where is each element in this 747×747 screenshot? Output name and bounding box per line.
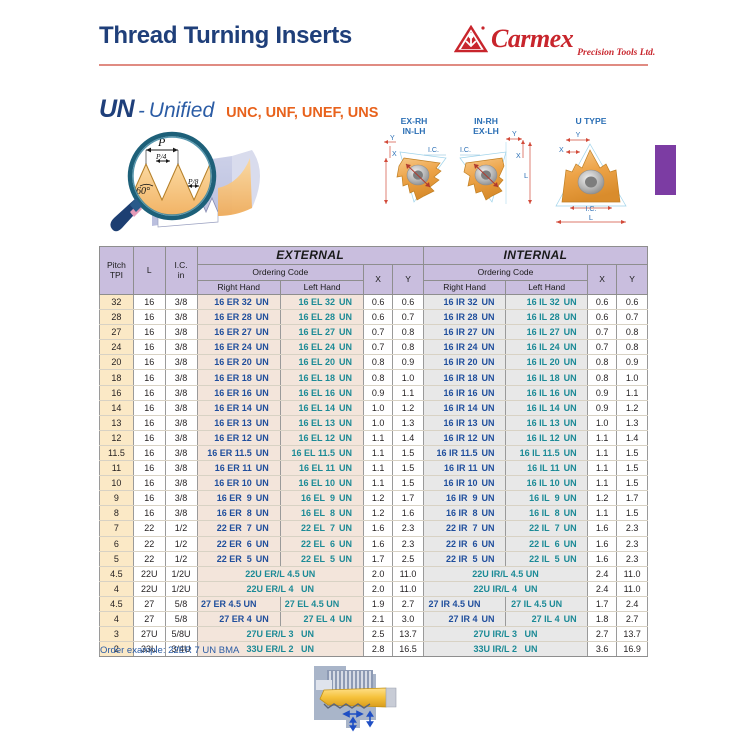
cell-internal-left-hand: 16 IL 11UN (506, 461, 588, 476)
svg-text:X: X (516, 153, 521, 160)
header-int-y: Y (617, 265, 648, 295)
cell-internal-x: 1.8 (588, 611, 617, 626)
table-header: Pitch TPI L I.C. in EXTERNAL INTERNAL Or… (100, 247, 648, 295)
cell-external-left-hand: 16 EL 20UN (280, 355, 363, 370)
cell-external-y: 3.0 (393, 611, 424, 626)
cell-internal-y: 1.1 (617, 385, 648, 400)
cell-ic: 3/8 (165, 430, 197, 445)
cell-internal-x: 1.2 (588, 491, 617, 506)
cell-pitch: 4 (100, 581, 134, 596)
table-row: 422U1/2U22U ER/L 4 UN2.011.022U IR/L 4 U… (100, 581, 648, 596)
cell-external-y: 0.6 (393, 295, 424, 310)
cell-ic: 3/8 (165, 415, 197, 430)
cell-external-y: 1.5 (393, 445, 424, 460)
cell-external-y: 1.1 (393, 385, 424, 400)
cell-internal-y: 0.6 (617, 295, 648, 310)
cell-pitch: 24 (100, 340, 134, 355)
cell-l: 16 (133, 430, 165, 445)
cell-external-y: 1.4 (393, 430, 424, 445)
header-external: EXTERNAL (197, 247, 423, 265)
cell-internal-x: 0.7 (588, 340, 617, 355)
cell-external-right-hand: 16 ER 9UN (197, 491, 280, 506)
cell-external-code-span: 22U ER/L 4.5 UN (197, 566, 364, 581)
cell-l: 16 (133, 476, 165, 491)
svg-text:L: L (589, 213, 593, 222)
cell-internal-x: 1.1 (588, 430, 617, 445)
cell-external-x: 1.1 (364, 445, 393, 460)
cell-external-right-hand: 16 ER 27UN (197, 325, 280, 340)
cell-l: 16 (133, 461, 165, 476)
header-row-1: Pitch TPI L I.C. in EXTERNAL INTERNAL (100, 247, 648, 265)
cell-internal-x: 1.0 (588, 415, 617, 430)
cell-external-right-hand: 22 ER 6UN (197, 536, 280, 551)
svg-text:P/8: P/8 (187, 177, 199, 186)
cell-ic: 1/2U (165, 581, 197, 596)
cell-internal-right-hand: 16 IR 13UN (423, 415, 505, 430)
cell-pitch: 18 (100, 370, 134, 385)
cell-l: 16 (133, 340, 165, 355)
cell-ic: 1/2 (165, 521, 197, 536)
header-ext-y: Y (393, 265, 424, 295)
table-row: 13163/816 ER 13UN16 EL 13UN1.01.316 IR 1… (100, 415, 648, 430)
table-row: 6221/222 ER 6UN22 EL 6UN1.62.322 IR 6UN2… (100, 536, 648, 551)
cell-external-left-hand: 16 EL 13UN (280, 415, 363, 430)
cell-internal-y: 16.9 (617, 642, 648, 657)
cell-internal-code-span: 33U IR/L 2 UN (423, 642, 587, 657)
cell-pitch: 5 (100, 551, 134, 566)
cell-internal-y: 0.8 (617, 340, 648, 355)
cell-ic: 3/8 (165, 461, 197, 476)
cell-internal-x: 3.6 (588, 642, 617, 657)
cell-internal-x: 1.7 (588, 596, 617, 611)
cell-internal-right-hand: 16 IR 11.5UN (423, 445, 505, 460)
cell-external-left-hand: 16 EL 10UN (280, 476, 363, 491)
cell-external-y: 13.7 (393, 627, 424, 642)
cell-internal-x: 0.6 (588, 295, 617, 310)
table-row: 4.5275/827 ER 4.5 UN27 EL 4.5 UN1.92.727… (100, 596, 648, 611)
cell-internal-x: 2.7 (588, 627, 617, 642)
cell-external-right-hand: 16 ER 18UN (197, 370, 280, 385)
header-l: L (133, 247, 165, 295)
cell-ic: 3/8 (165, 355, 197, 370)
cell-internal-left-hand: 22 IL 5UN (506, 551, 588, 566)
header-pitch-unit: TPI (100, 271, 133, 281)
cell-external-right-hand: 16 ER 24UN (197, 340, 280, 355)
cell-external-right-hand: 16 ER 14UN (197, 400, 280, 415)
carmex-logo: Carmex Precision Tools Ltd. (454, 22, 655, 56)
table-row: 7221/222 ER 7UN22 EL 7UN1.62.322 IR 7UN2… (100, 521, 648, 536)
cell-pitch: 11.5 (100, 445, 134, 460)
cell-external-y: 1.7 (393, 491, 424, 506)
cell-external-x: 2.0 (364, 581, 393, 596)
cell-internal-x: 0.8 (588, 355, 617, 370)
cell-external-left-hand: 27 EL 4UN (280, 611, 363, 626)
cell-l: 27U (133, 627, 165, 642)
cell-ic: 3/8 (165, 491, 197, 506)
cell-pitch: 4 (100, 611, 134, 626)
cell-internal-x: 1.1 (588, 506, 617, 521)
cell-external-x: 1.9 (364, 596, 393, 611)
cell-l: 16 (133, 310, 165, 325)
table-row: 18163/816 ER 18UN16 EL 18UN0.81.016 IR 1… (100, 370, 648, 385)
header-int-right-hand: Right Hand (423, 281, 505, 295)
cell-internal-y: 1.5 (617, 445, 648, 460)
cell-ic: 3/8 (165, 506, 197, 521)
cell-internal-x: 1.1 (588, 445, 617, 460)
cell-external-x: 1.6 (364, 521, 393, 536)
cell-external-x: 0.7 (364, 325, 393, 340)
carmex-wordmark: Carmex (491, 26, 573, 52)
cell-external-x: 2.8 (364, 642, 393, 657)
cell-internal-left-hand: 16 IL 11.5UN (506, 445, 588, 460)
cell-internal-right-hand: 16 IR 32UN (423, 295, 505, 310)
cell-internal-y: 2.3 (617, 536, 648, 551)
cell-external-left-hand: 16 EL 8UN (280, 506, 363, 521)
cell-internal-left-hand: 16 IL 27UN (506, 325, 588, 340)
cell-internal-y: 2.3 (617, 551, 648, 566)
cell-internal-y: 2.4 (617, 596, 648, 611)
cell-l: 16 (133, 325, 165, 340)
cell-internal-x: 1.6 (588, 551, 617, 566)
cell-internal-x: 1.1 (588, 476, 617, 491)
svg-text:X: X (392, 151, 397, 158)
cell-internal-x: 0.9 (588, 385, 617, 400)
table-row: 11163/816 ER 11UN16 EL 11UN1.11.516 IR 1… (100, 461, 648, 476)
cell-external-right-hand: 16 ER 13UN (197, 415, 280, 430)
header-ic: I.C. in (165, 247, 197, 295)
cell-internal-x: 1.1 (588, 461, 617, 476)
cell-internal-left-hand: 16 IL 9UN (506, 491, 588, 506)
cell-external-y: 2.5 (393, 551, 424, 566)
cell-pitch: 27 (100, 325, 134, 340)
cell-l: 16 (133, 400, 165, 415)
cell-external-left-hand: 16 EL 11.5UN (280, 445, 363, 460)
header-int-ordering-code: Ordering Code (423, 265, 587, 281)
cell-ic: 5/8 (165, 611, 197, 626)
cell-internal-x: 0.8 (588, 370, 617, 385)
cell-external-right-hand: 16 ER 28UN (197, 310, 280, 325)
cell-internal-right-hand: 16 IR 8UN (423, 506, 505, 521)
section-subtitle: UN - Unified UNC, UNF, UNEF, UNS (99, 95, 378, 124)
cell-external-y: 0.8 (393, 325, 424, 340)
header-ic-unit: in (166, 271, 197, 281)
cell-internal-y: 1.3 (617, 415, 648, 430)
cell-external-y: 0.7 (393, 310, 424, 325)
header-internal: INTERNAL (423, 247, 647, 265)
cell-external-left-hand: 27 EL 4.5 UN (280, 596, 363, 611)
thread-standards: UNC, UNF, UNEF, UNS (226, 105, 378, 121)
cell-l: 22 (133, 551, 165, 566)
cell-internal-left-hand: 16 IL 13UN (506, 415, 588, 430)
catalog-page: Thread Turning Inserts Carmex Precision … (0, 0, 747, 747)
cell-external-right-hand: 22 ER 7UN (197, 521, 280, 536)
cell-ic: 3/8 (165, 325, 197, 340)
cell-ic: 3/8 (165, 400, 197, 415)
cell-external-y: 0.9 (393, 355, 424, 370)
cell-external-x: 1.2 (364, 506, 393, 521)
cell-external-left-hand: 16 EL 9UN (280, 491, 363, 506)
cell-internal-right-hand: 16 IR 16UN (423, 385, 505, 400)
table-row: 11.5163/816 ER 11.5UN16 EL 11.5UN1.11.51… (100, 445, 648, 460)
cell-ic: 1/2 (165, 551, 197, 566)
cell-internal-right-hand: 16 IR 14UN (423, 400, 505, 415)
cell-internal-y: 0.9 (617, 355, 648, 370)
cell-internal-left-hand: 16 IL 16UN (506, 385, 588, 400)
header-ext-ordering-code: Ordering Code (197, 265, 364, 281)
cell-external-left-hand: 16 EL 28UN (280, 310, 363, 325)
cell-internal-left-hand: 16 IL 14UN (506, 400, 588, 415)
header-ext-x: X (364, 265, 393, 295)
thread-turning-tool-diagram (300, 660, 420, 740)
cell-internal-right-hand: 22 IR 6UN (423, 536, 505, 551)
cell-ic: 1/2U (165, 566, 197, 581)
cell-external-x: 1.0 (364, 400, 393, 415)
cell-l: 16 (133, 506, 165, 521)
svg-text:X: X (559, 147, 564, 154)
cell-internal-x: 1.6 (588, 521, 617, 536)
cell-external-right-hand: 16 ER 32UN (197, 295, 280, 310)
cell-external-y: 16.5 (393, 642, 424, 657)
cell-internal-right-hand: 16 IR 12UN (423, 430, 505, 445)
cell-external-x: 0.8 (364, 355, 393, 370)
cell-internal-right-hand: 27 IR 4UN (423, 611, 505, 626)
cell-external-y: 1.2 (393, 400, 424, 415)
table-row: 27163/816 ER 27UN16 EL 27UN0.70.816 IR 2… (100, 325, 648, 340)
cell-l: 16 (133, 370, 165, 385)
cell-internal-x: 0.7 (588, 325, 617, 340)
table-row: 8163/816 ER 8UN16 EL 8UN1.21.616 IR 8UN1… (100, 506, 648, 521)
cell-l: 22U (133, 566, 165, 581)
cell-external-y: 1.0 (393, 370, 424, 385)
cell-external-y: 1.6 (393, 506, 424, 521)
cell-internal-left-hand: 22 IL 7UN (506, 521, 588, 536)
cell-internal-right-hand: 16 IR 24UN (423, 340, 505, 355)
svg-text:Y: Y (512, 131, 517, 138)
cell-internal-y: 1.7 (617, 491, 648, 506)
cell-external-left-hand: 16 EL 24UN (280, 340, 363, 355)
header-pitch: Pitch TPI (100, 247, 134, 295)
cell-pitch: 16 (100, 385, 134, 400)
cell-l: 16 (133, 445, 165, 460)
cell-internal-right-hand: 16 IR 20UN (423, 355, 505, 370)
cell-external-y: 2.3 (393, 521, 424, 536)
svg-text:L: L (524, 171, 528, 180)
cell-external-x: 2.0 (364, 566, 393, 581)
cell-internal-left-hand: 16 IL 20UN (506, 355, 588, 370)
cell-external-code-span: 27U ER/L 3 UN (197, 627, 364, 642)
insert-type-diagrams: EX-RH IN-LH I.C. Y X (382, 112, 648, 237)
cell-external-x: 1.7 (364, 551, 393, 566)
svg-text:U TYPE: U TYPE (575, 116, 606, 126)
header-ext-right-hand: Right Hand (197, 281, 280, 295)
cell-internal-right-hand: 27 IR 4.5 UN (423, 596, 505, 611)
cell-external-x: 1.1 (364, 461, 393, 476)
cell-external-y: 2.7 (393, 596, 424, 611)
cell-external-x: 0.9 (364, 385, 393, 400)
cell-ic: 1/2 (165, 536, 197, 551)
cell-pitch: 7 (100, 521, 134, 536)
cell-internal-y: 2.7 (617, 611, 648, 626)
cell-external-left-hand: 16 EL 18UN (280, 370, 363, 385)
table-row: 10163/816 ER 10UN16 EL 10UN1.11.516 IR 1… (100, 476, 648, 491)
table-row: 9163/816 ER 9UN16 EL 9UN1.21.716 IR 9UN1… (100, 491, 648, 506)
cell-external-left-hand: 16 EL 11UN (280, 461, 363, 476)
cell-external-x: 1.2 (364, 491, 393, 506)
thread-code: UN (99, 95, 134, 124)
cell-external-right-hand: 16 ER 11UN (197, 461, 280, 476)
cell-pitch: 4.5 (100, 566, 134, 581)
cell-external-left-hand: 16 EL 16UN (280, 385, 363, 400)
cell-external-x: 1.1 (364, 476, 393, 491)
cell-ic: 3/8 (165, 445, 197, 460)
cell-internal-left-hand: 16 IL 32UN (506, 295, 588, 310)
cell-internal-x: 0.6 (588, 310, 617, 325)
cell-external-code-span: 22U ER/L 4 UN (197, 581, 364, 596)
cell-internal-left-hand: 22 IL 6UN (506, 536, 588, 551)
cell-external-y: 11.0 (393, 566, 424, 581)
cell-pitch: 28 (100, 310, 134, 325)
cell-l: 27 (133, 596, 165, 611)
table-row: 14163/816 ER 14UN16 EL 14UN1.01.216 IR 1… (100, 400, 648, 415)
table-row: 20163/816 ER 20UN16 EL 20UN0.80.916 IR 2… (100, 355, 648, 370)
cell-external-x: 0.7 (364, 340, 393, 355)
table-row: 24163/816 ER 24UN16 EL 24UN0.70.816 IR 2… (100, 340, 648, 355)
cell-l: 27 (133, 611, 165, 626)
cell-internal-code-span: 22U IR/L 4.5 UN (423, 566, 587, 581)
cell-internal-left-hand: 16 IL 12UN (506, 430, 588, 445)
page-header: Thread Turning Inserts Carmex Precision … (99, 22, 648, 70)
cell-internal-code-span: 27U IR/L 3 UN (423, 627, 587, 642)
cell-external-x: 2.1 (364, 611, 393, 626)
cell-ic: 3/8 (165, 310, 197, 325)
cell-internal-y: 2.3 (617, 521, 648, 536)
svg-text:I.C.: I.C. (460, 147, 471, 154)
cell-external-left-hand: 22 EL 7UN (280, 521, 363, 536)
cell-internal-right-hand: 16 IR 9UN (423, 491, 505, 506)
cell-internal-right-hand: 22 IR 5UN (423, 551, 505, 566)
cell-external-right-hand: 27 ER 4.5 UN (197, 596, 280, 611)
cell-external-y: 1.3 (393, 415, 424, 430)
svg-text:P/4: P/4 (155, 152, 167, 161)
cell-l: 16 (133, 355, 165, 370)
table-body: 32163/816 ER 32UN16 EL 32UN0.60.616 IR 3… (100, 295, 648, 657)
cell-external-x: 0.6 (364, 310, 393, 325)
svg-text:I.C.: I.C. (428, 147, 439, 154)
cell-external-x: 0.8 (364, 370, 393, 385)
order-example: Order example: 22ER 7 UN BMA (100, 645, 239, 656)
cell-l: 22U (133, 581, 165, 596)
subtitle-dash: - (138, 100, 145, 123)
cell-external-right-hand: 16 ER 8UN (197, 506, 280, 521)
cell-internal-left-hand: 16 IL 18UN (506, 370, 588, 385)
cell-internal-y: 0.7 (617, 310, 648, 325)
cell-external-right-hand: 22 ER 5UN (197, 551, 280, 566)
section-color-tab (655, 145, 676, 195)
cell-internal-code-span: 22U IR/L 4 UN (423, 581, 587, 596)
cell-internal-right-hand: 16 IR 27UN (423, 325, 505, 340)
cell-external-x: 1.0 (364, 415, 393, 430)
cell-internal-right-hand: 22 IR 7UN (423, 521, 505, 536)
cell-l: 16 (133, 491, 165, 506)
cell-pitch: 11 (100, 461, 134, 476)
svg-text:IN-LH: IN-LH (403, 126, 426, 136)
header-divider (99, 64, 648, 66)
cell-internal-x: 2.4 (588, 566, 617, 581)
carmex-tagline: Precision Tools Ltd. (577, 48, 655, 58)
table-row: 12163/816 ER 12UN16 EL 12UN1.11.416 IR 1… (100, 430, 648, 445)
cell-external-right-hand: 16 ER 20UN (197, 355, 280, 370)
cell-internal-left-hand: 27 IL 4UN (506, 611, 588, 626)
cell-internal-right-hand: 16 IR 10UN (423, 476, 505, 491)
cell-ic: 3/8 (165, 385, 197, 400)
table-row: 16163/816 ER 16UN16 EL 16UN0.91.116 IR 1… (100, 385, 648, 400)
cell-ic: 3/8 (165, 295, 197, 310)
cell-internal-y: 11.0 (617, 566, 648, 581)
cell-l: 22 (133, 536, 165, 551)
cell-external-left-hand: 22 EL 5UN (280, 551, 363, 566)
svg-text:Y: Y (576, 132, 581, 139)
cell-l: 22 (133, 521, 165, 536)
header-int-left-hand: Left Hand (506, 281, 588, 295)
table-row: 4.522U1/2U22U ER/L 4.5 UN2.011.022U IR/L… (100, 566, 648, 581)
cell-pitch: 6 (100, 536, 134, 551)
svg-text:Y: Y (390, 135, 395, 142)
carmex-triangle-icon (454, 25, 488, 53)
cell-ic: 5/8U (165, 627, 197, 642)
cell-external-left-hand: 22 EL 6UN (280, 536, 363, 551)
cell-internal-y: 1.4 (617, 430, 648, 445)
thread-profile-illustration: P P/4 P/8 60° (100, 128, 325, 238)
svg-text:I.C.: I.C. (586, 206, 597, 213)
insert-specification-table: Pitch TPI L I.C. in EXTERNAL INTERNAL Or… (99, 246, 648, 657)
cell-external-y: 11.0 (393, 581, 424, 596)
cell-pitch: 13 (100, 415, 134, 430)
cell-internal-left-hand: 27 IL 4.5 UN (506, 596, 588, 611)
cell-external-left-hand: 16 EL 12UN (280, 430, 363, 445)
table-row: 28163/816 ER 28UN16 EL 28UN0.60.716 IR 2… (100, 310, 648, 325)
page-title: Thread Turning Inserts (99, 22, 352, 50)
table-row: 327U5/8U27U ER/L 3 UN2.513.727U IR/L 3 U… (100, 627, 648, 642)
cell-external-left-hand: 16 EL 27UN (280, 325, 363, 340)
cell-ic: 3/8 (165, 476, 197, 491)
cell-internal-y: 1.0 (617, 370, 648, 385)
cell-external-right-hand: 16 ER 11.5UN (197, 445, 280, 460)
cell-pitch: 10 (100, 476, 134, 491)
cell-internal-y: 1.5 (617, 506, 648, 521)
cell-pitch: 20 (100, 355, 134, 370)
table-row: 5221/222 ER 5UN22 EL 5UN1.72.522 IR 5UN2… (100, 551, 648, 566)
cell-pitch: 8 (100, 506, 134, 521)
table-row: 4275/827 ER 4UN27 EL 4UN2.13.027 IR 4UN2… (100, 611, 648, 626)
cell-external-x: 1.6 (364, 536, 393, 551)
cell-pitch: 14 (100, 400, 134, 415)
cell-pitch: 9 (100, 491, 134, 506)
cell-pitch: 4.5 (100, 596, 134, 611)
cell-internal-left-hand: 16 IL 8UN (506, 506, 588, 521)
cell-internal-x: 1.6 (588, 536, 617, 551)
cell-ic: 3/8 (165, 370, 197, 385)
cell-external-right-hand: 16 ER 16UN (197, 385, 280, 400)
cell-external-right-hand: 27 ER 4UN (197, 611, 280, 626)
table-row: 32163/816 ER 32UN16 EL 32UN0.60.616 IR 3… (100, 295, 648, 310)
cell-internal-x: 0.9 (588, 400, 617, 415)
cell-external-right-hand: 16 ER 12UN (197, 430, 280, 445)
svg-text:IN-RH: IN-RH (474, 116, 498, 126)
cell-internal-left-hand: 16 IL 28UN (506, 310, 588, 325)
cell-internal-y: 1.2 (617, 400, 648, 415)
header-ext-left-hand: Left Hand (280, 281, 363, 295)
cell-external-x: 2.5 (364, 627, 393, 642)
